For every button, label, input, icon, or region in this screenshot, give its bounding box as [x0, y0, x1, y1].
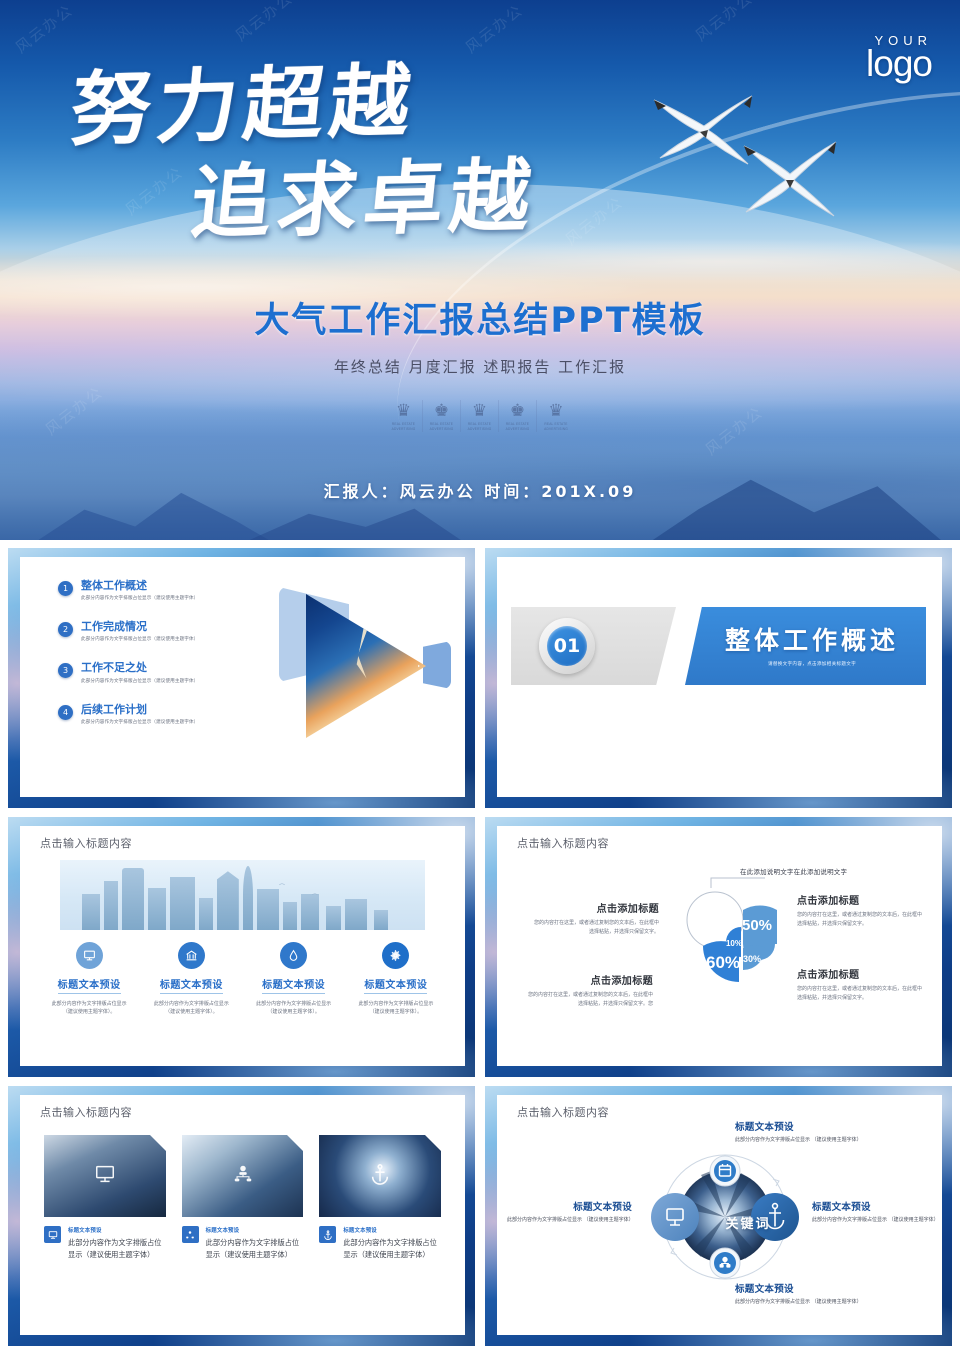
crown-badge: ♛ REAL ESTATE ADVERTISING: [385, 400, 423, 432]
feature-body: 此部分内容作为文字排版占位显示（建议使用主题字体）。: [39, 1000, 139, 1016]
sailing-ship-icon: [353, 625, 415, 695]
card-body: 此部分内容作为文字排版占位显示（建议使用主题字体）: [68, 1237, 166, 1260]
watermark-text: 风云办公: [231, 0, 298, 46]
feature-body: 此部分内容作为文字排版占位显示（建议使用主题字体）。: [141, 1000, 241, 1016]
seagull-icon: [648, 92, 758, 170]
cycle-node-heading: 标题文本预设: [812, 1199, 937, 1213]
gallery-card[interactable]: 标题文本预设 此部分内容作为文字排版占位显示（建议使用主题字体）: [44, 1135, 166, 1260]
slide-thumbnail-grid: 1 整体工作概述 此部分内容作为文字排版占位显示（建议使用主题字体） 2 工作完…: [0, 540, 960, 1352]
slide-page: 点击输入标题内容: [497, 1095, 942, 1335]
slide-thumb-features[interactable]: 点击输入标题内容 ⌒ ⌒: [8, 817, 475, 1077]
cover-title: 大气工作汇报总结PPT模板: [0, 292, 960, 343]
watermark-text: 风云办公: [691, 0, 758, 46]
chart-label-block: 点击添加标题 您的内容打在这里，或者通过复制您的文本后，在此框中选择粘贴，并选择…: [527, 972, 653, 1009]
slide-thumb-agenda[interactable]: 1 整体工作概述 此部分内容作为文字排版占位显示（建议使用主题字体） 2 工作完…: [8, 548, 475, 808]
card-body: 此部分内容作为文字排版占位显示（建议使用主题字体）: [343, 1237, 441, 1260]
cycle-node-label: 标题文本预设 此部分内容作为文字排版占位显示 （建议使用主题字体）: [812, 1199, 937, 1225]
crown-badge: ♛ REAL ESTATE ADVERTISING: [537, 400, 575, 432]
cycle-node-heading: 标题文本预设: [507, 1199, 632, 1213]
crown-badge-label: REAL ESTATE ADVERTISING: [505, 422, 530, 432]
agenda-body: 此部分内容作为文字排版占位显示（建议使用主题字体）: [81, 678, 198, 684]
agenda-number: 3: [58, 663, 73, 678]
logo: YOUR logo: [866, 34, 932, 81]
cycle-center-label: 关键词: [693, 1213, 803, 1232]
agenda-body: 此部分内容作为文字排版占位显示（建议使用主题字体）: [81, 719, 198, 725]
card-heading: 标题文本预设: [206, 1226, 304, 1234]
cycle-node-heading: 标题文本预设: [735, 1281, 860, 1295]
agenda-heading: 后续工作计划: [81, 703, 198, 716]
cover-footer: 汇报人：风云办公 时间：201X.09: [0, 478, 960, 502]
feature-body: 此部分内容作为文字排版占位显示（建议使用主题字体）。: [244, 1000, 344, 1016]
slide-page: 01 整体工作概述 请替换文字内容，点击添加相关标题文字: [497, 557, 942, 797]
crown-badge-row: ♛ REAL ESTATE ADVERTISING ♚ REAL ESTATE …: [0, 400, 960, 432]
petal-value-50: 50%: [742, 917, 772, 934]
crown-badge-label: REAL ESTATE ADVERTISING: [467, 422, 492, 432]
agenda-heading: 工作完成情况: [81, 620, 198, 633]
petal-value-60: 60%: [706, 953, 740, 972]
logo-main-text: logo: [866, 47, 932, 81]
page-title: 点击输入标题内容: [40, 835, 132, 851]
feature-column[interactable]: 标题文本预设 此部分内容作为文字排版占位显示（建议使用主题字体）。: [141, 942, 241, 1016]
bank-icon: [178, 942, 205, 969]
watermark-text: 风云办公: [11, 0, 78, 58]
card-photo: [182, 1135, 304, 1217]
agenda-list: 1 整体工作概述 此部分内容作为文字排版占位显示（建议使用主题字体） 2 工作完…: [58, 579, 273, 744]
projector-icon: [76, 942, 103, 969]
triangle-tab: [423, 641, 451, 689]
card-corner-cut: [287, 1135, 303, 1151]
cycle-diagram: 关键词 标题文本预设 此部分内容作为文字排版占位显示 （建议使用主题字体） 标题…: [497, 1095, 942, 1335]
crown-badge-label: REAL ESTATE ADVERTISING: [429, 422, 454, 432]
droplet-icon: [280, 942, 307, 969]
chart-label-block: 点击添加标题 您的内容打在这里，或者通过复制您的文本后，在此框中选择粘贴，并选择…: [797, 892, 923, 929]
projector-icon: [44, 1226, 61, 1243]
card-body: 此部分内容作为文字排版占位显示（建议使用主题字体）: [206, 1237, 304, 1260]
agenda-body: 此部分内容作为文字排版占位显示（建议使用主题字体）: [81, 595, 198, 601]
chart-label-block: 点击添加标题 您的内容打在这里，或者通过复制您的文本后，在此框中选择粘贴，并选择…: [797, 966, 923, 1003]
slide-page: 点击输入标题内容: [20, 1095, 465, 1335]
gallery-card[interactable]: 标题文本预设 此部分内容作为文字排版占位显示（建议使用主题字体）: [182, 1135, 304, 1260]
triangle-artwork: [271, 585, 451, 750]
org-chart-icon: [182, 1226, 199, 1243]
feature-body: 此部分内容作为文字排版占位显示（建议使用主题字体）。: [346, 1000, 446, 1016]
cycle-node-body: 此部分内容作为文字排版占位显示 （建议使用主题字体）: [812, 1216, 937, 1225]
agenda-item[interactable]: 1 整体工作概述 此部分内容作为文字排版占位显示（建议使用主题字体）: [58, 579, 273, 601]
slide-page: 1 整体工作概述 此部分内容作为文字排版占位显示（建议使用主题字体） 2 工作完…: [20, 557, 465, 797]
cycle-node-body: 此部分内容作为文字排版占位显示 （建议使用主题字体）: [507, 1216, 632, 1225]
card-heading: 标题文本预设: [343, 1226, 441, 1234]
feature-heading: 标题文本预设: [262, 976, 325, 994]
feature-column[interactable]: 标题文本预设 此部分内容作为文字排版占位显示（建议使用主题字体）。: [346, 942, 446, 1016]
feature-columns: 标题文本预设 此部分内容作为文字排版占位显示（建议使用主题字体）。 标题文本预设…: [38, 942, 447, 1016]
petal-chart: 50% 10% 60% 30% 在此添加说明文字在此添加说明文字 点击添加标题 …: [497, 826, 942, 1066]
slide-page: 点击输入标题内容 ⌒ ⌒: [20, 826, 465, 1066]
slide-thumb-gallery[interactable]: 点击输入标题内容: [8, 1086, 475, 1346]
agenda-number: 2: [58, 622, 73, 637]
watermark-text: 风云办公: [461, 0, 528, 58]
agenda-item[interactable]: 2 工作完成情况 此部分内容作为文字排版占位显示（建议使用主题字体）: [58, 620, 273, 642]
anchor-icon: [319, 1226, 336, 1243]
crown-badge-label: REAL ESTATE ADVERTISING: [543, 422, 569, 432]
crown-icon: ♛: [391, 402, 416, 419]
chart-label-body: 您的内容打在这里，或者通过复制您的文本后，在此框中选择粘贴，并选择只保留文字。您: [527, 991, 653, 1009]
gallery-cards: 标题文本预设 此部分内容作为文字排版占位显示（建议使用主题字体）: [44, 1135, 441, 1260]
agenda-number: 4: [58, 705, 73, 720]
cycle-node-body: 此部分内容作为文字排版占位显示 （建议使用主题字体）: [735, 1136, 860, 1145]
agenda-item[interactable]: 3 工作不足之处 此部分内容作为文字排版占位显示（建议使用主题字体）: [58, 661, 273, 683]
section-number-ring: 01: [539, 618, 595, 674]
chart-label-heading: 点击添加标题: [527, 972, 653, 987]
projector-icon: [94, 1163, 116, 1189]
chart-label-body: 您的内容打在这里，或者通过复制您的文本后，在此框中选择粘贴，并选择只保留文字。: [797, 985, 923, 1003]
bird-icon: ⌒: [312, 892, 318, 901]
crown-icon: ♛: [467, 402, 492, 419]
crown-icon: ♚: [505, 402, 530, 419]
crown-badge-label: REAL ESTATE ADVERTISING: [391, 422, 416, 432]
cover-slide: 风云办公 风云办公 风云办公 风云办公 风云办公 风云办公 风云办公 风云办公 …: [0, 0, 960, 540]
feature-heading: 标题文本预设: [364, 976, 427, 994]
cycle-node-label: 标题文本预设 此部分内容作为文字排版占位显示 （建议使用主题字体）: [735, 1119, 860, 1145]
cycle-node-label: 标题文本预设 此部分内容作为文字排版占位显示 （建议使用主题字体）: [507, 1199, 632, 1225]
feature-column[interactable]: 标题文本预设 此部分内容作为文字排版占位显示（建议使用主题字体）。: [39, 942, 139, 1016]
agenda-heading: 整体工作概述: [81, 579, 198, 592]
chart-callout: 在此添加说明文字在此添加说明文字: [740, 866, 847, 876]
card-photo: [44, 1135, 166, 1217]
slide-thumb-section[interactable]: 01 整体工作概述 请替换文字内容，点击添加相关标题文字: [485, 548, 952, 808]
slide-thumb-petal-chart[interactable]: 点击输入标题内容: [485, 817, 952, 1077]
city-skyline-image: ⌒ ⌒: [60, 860, 425, 930]
agenda-heading: 工作不足之处: [81, 661, 198, 674]
brush-line-2: 追求卓越: [187, 153, 636, 242]
cycle-node-label: 标题文本预设 此部分内容作为文字排版占位显示 （建议使用主题字体）: [735, 1281, 860, 1307]
brush-headline: 努力超越 追求卓越: [72, 62, 632, 238]
slide-thumb-cycle[interactable]: 点击输入标题内容: [485, 1086, 952, 1346]
cycle-node-heading: 标题文本预设: [735, 1119, 860, 1133]
chart-label-heading: 点击添加标题: [797, 966, 923, 981]
org-chart-icon: [232, 1163, 254, 1189]
petal-value-10: 10%: [726, 939, 742, 948]
section-banner: 01 整体工作概述 请替换文字内容，点击添加相关标题文字: [497, 607, 942, 685]
card-corner-cut: [425, 1135, 441, 1151]
gear-icon: [382, 942, 409, 969]
agenda-number: 1: [58, 581, 73, 596]
brush-line-1: 努力超越: [67, 54, 636, 150]
chart-label-heading: 点击添加标题: [797, 892, 923, 907]
crown-badge: ♛ REAL ESTATE ADVERTISING: [461, 400, 499, 432]
crown-icon: ♛: [543, 402, 569, 419]
card-heading: 标题文本预设: [68, 1226, 166, 1234]
slide-page: 点击输入标题内容: [497, 826, 942, 1066]
bird-icon: ⌒: [279, 882, 285, 891]
anchor-icon: [369, 1163, 391, 1189]
seagull-icon: [740, 140, 840, 222]
chart-label-heading: 点击添加标题: [533, 900, 659, 915]
chart-label-body: 您的内容打在这里，或者通过复制您的文本后，在此框中选择粘贴，并选择只保留文字。: [533, 919, 659, 937]
petal-value-30: 30%: [743, 954, 761, 964]
crown-badge: ♚ REAL ESTATE ADVERTISING: [499, 400, 537, 432]
section-number: 01: [547, 626, 587, 666]
cover-subtitle: 年终总结 月度汇报 述职报告 工作汇报: [0, 356, 960, 377]
feature-column[interactable]: 标题文本预设 此部分内容作为文字排版占位显示（建议使用主题字体）。: [244, 942, 344, 1016]
chart-label-block: 点击添加标题 您的内容打在这里，或者通过复制您的文本后，在此框中选择粘贴，并选择…: [533, 900, 659, 937]
card-corner-cut: [150, 1135, 166, 1151]
section-heading: 整体工作概述: [702, 621, 922, 657]
petal-chart-svg: 50% 10% 60% 30%: [667, 864, 817, 1024]
page-title: 点击输入标题内容: [40, 1104, 132, 1120]
section-body: 请替换文字内容，点击添加相关标题文字: [702, 661, 922, 667]
agenda-body: 此部分内容作为文字排版占位显示（建议使用主题字体）: [81, 636, 198, 642]
chart-label-body: 您的内容打在这里，或者通过复制您的文本后，在此框中选择粘贴，并选择只保留文字。: [797, 911, 923, 929]
gallery-card[interactable]: 标题文本预设 此部分内容作为文字排版占位显示（建议使用主题字体）: [319, 1135, 441, 1260]
crown-icon: ♚: [429, 402, 454, 419]
feature-heading: 标题文本预设: [160, 976, 223, 994]
triangle-image-frame: [301, 591, 426, 741]
cycle-node-body: 此部分内容作为文字排版占位显示 （建议使用主题字体）: [735, 1298, 860, 1307]
crown-badge: ♚ REAL ESTATE ADVERTISING: [423, 400, 461, 432]
card-photo: [319, 1135, 441, 1217]
agenda-item[interactable]: 4 后续工作计划 此部分内容作为文字排版占位显示（建议使用主题字体）: [58, 703, 273, 725]
feature-heading: 标题文本预设: [58, 976, 121, 994]
